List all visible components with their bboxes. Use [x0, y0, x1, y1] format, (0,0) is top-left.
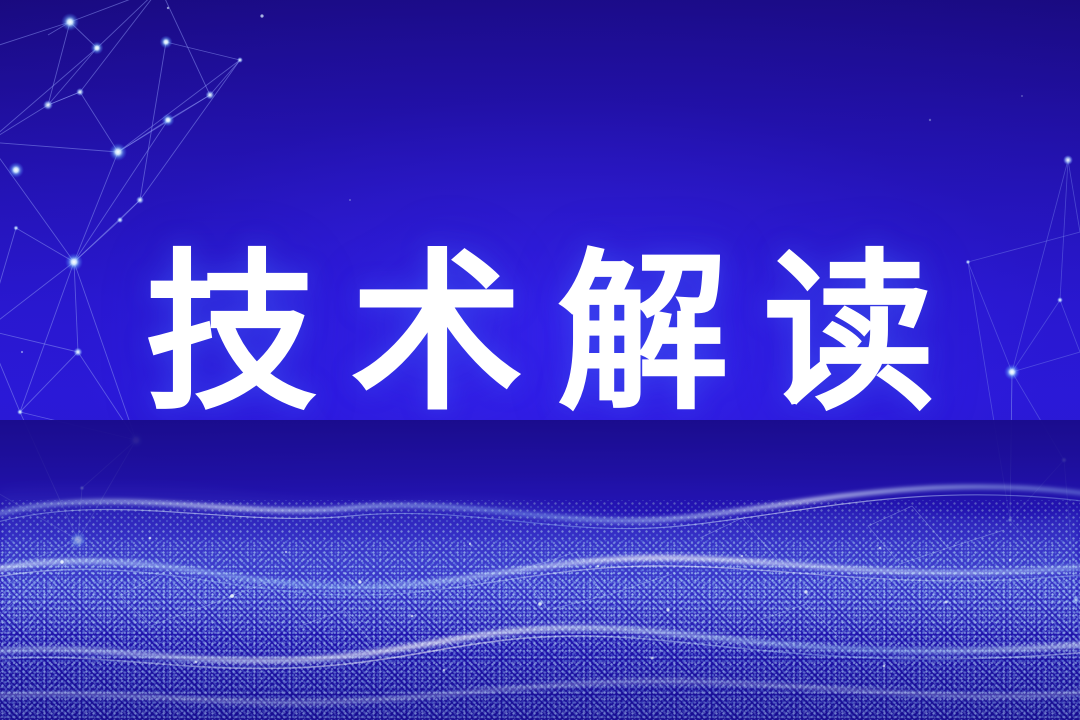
banner-canvas: 技术解读 — [0, 0, 1080, 720]
wave-ribbon-lower — [0, 628, 1080, 661]
wave-ribbon-bottom — [0, 681, 1080, 702]
particle-wave-layer — [0, 420, 1080, 720]
wave-ribbons — [0, 420, 1080, 720]
background-stars — [21, 7, 1023, 353]
